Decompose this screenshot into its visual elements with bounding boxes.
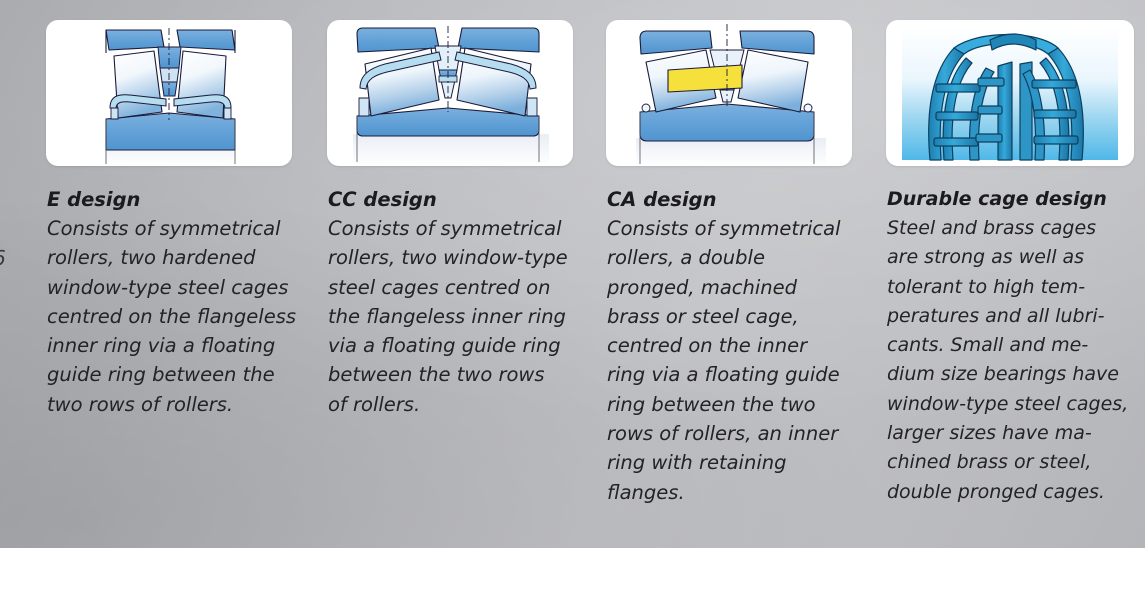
caption-line: peratures and all lubri- xyxy=(887,302,1134,331)
caption-line: rollers, two window-type xyxy=(328,243,573,272)
caption-title: CA design xyxy=(607,185,852,214)
spherical-roller-bearing-cc-design-cross-section xyxy=(327,20,573,166)
caption-cc-design: CC design Consists of symmetrical roller… xyxy=(327,185,573,419)
caption-durable-cage-design: Durable cage design Steel and brass cage… xyxy=(886,185,1134,507)
caption-line: window-type steel cages xyxy=(47,273,292,302)
caption-line: dium size bearings have xyxy=(887,360,1134,389)
spherical-roller-bearing-e-design-cross-section xyxy=(46,20,292,166)
caption-line: are strong as well as xyxy=(887,243,1134,272)
caption-line: Steel and brass cages xyxy=(887,214,1134,243)
caption-line: pronged, machined xyxy=(607,273,852,302)
bearing-image-card-e-design xyxy=(46,20,292,166)
caption-line: chined brass or steel, xyxy=(887,448,1134,477)
caption-line: double pronged cages. xyxy=(887,478,1134,507)
caption-body: Consists of symmetrical rollers, a doubl… xyxy=(607,214,852,507)
caption-line: rollers, a double xyxy=(607,243,852,272)
caption-line: Consists of symmetrical xyxy=(607,214,852,243)
caption-line: ring via a floating guide xyxy=(607,360,852,389)
design-column-durable-cage-design: Durable cage design Steel and brass cage… xyxy=(886,20,1134,507)
bearing-image-card-durable-cage xyxy=(886,20,1134,166)
caption-line: of rollers. xyxy=(328,390,573,419)
caption-line: between the two rows xyxy=(328,360,573,389)
caption-line: Consists of symmetrical xyxy=(47,214,292,243)
brass-cage-photo xyxy=(886,20,1134,166)
caption-line: centred on the inner xyxy=(607,331,852,360)
caption-line: rollers, two hardened xyxy=(47,243,292,272)
design-column-ca-design: CA design Consists of symmetrical roller… xyxy=(606,20,852,507)
design-column-cc-design: CC design Consists of symmetrical roller… xyxy=(327,20,573,419)
caption-line: cants. Small and me- xyxy=(887,331,1134,360)
caption-line: via a floating guide ring xyxy=(328,331,573,360)
caption-line: steel cages centred on xyxy=(328,273,573,302)
caption-line: brass or steel cage, xyxy=(607,302,852,331)
caption-body: Consists of symmetrical rollers, two har… xyxy=(47,214,292,419)
caption-line: tolerant to high tem- xyxy=(887,273,1134,302)
caption-ca-design: CA design Consists of symmetrical roller… xyxy=(606,185,852,507)
caption-line: flanges. xyxy=(607,478,852,507)
caption-line: Consists of symmetrical xyxy=(328,214,573,243)
margin-page-number: 6 xyxy=(0,246,6,270)
caption-line: guide ring between the xyxy=(47,360,292,389)
brass-cage-highlight xyxy=(668,65,742,92)
design-column-e-design: E design Consists of symmetrical rollers… xyxy=(46,20,292,419)
caption-body: Consists of symmetrical rollers, two win… xyxy=(328,214,573,419)
caption-line: larger sizes have ma- xyxy=(887,419,1134,448)
page-root: 6 xyxy=(0,0,1145,600)
caption-line: inner ring via a floating xyxy=(47,331,292,360)
caption-line: two rows of rollers. xyxy=(47,390,292,419)
caption-line: centred on the flangeless xyxy=(47,302,292,331)
caption-title: CC design xyxy=(328,185,573,214)
caption-line: ring between the two xyxy=(607,390,852,419)
caption-body: Steel and brass cages are strong as well… xyxy=(887,214,1134,507)
caption-line: ring with retaining xyxy=(607,448,852,477)
caption-title: E design xyxy=(47,185,292,214)
bearing-image-card-cc-design xyxy=(327,20,573,166)
caption-line: window-type steel cages, xyxy=(887,390,1134,419)
caption-e-design: E design Consists of symmetrical rollers… xyxy=(46,185,292,419)
bearing-image-card-ca-design xyxy=(606,20,852,166)
caption-line: rows of rollers, an inner xyxy=(607,419,852,448)
caption-title: Durable cage design xyxy=(887,185,1134,214)
spherical-roller-bearing-ca-design-cross-section xyxy=(606,20,852,166)
caption-line: the flangeless inner ring xyxy=(328,302,573,331)
